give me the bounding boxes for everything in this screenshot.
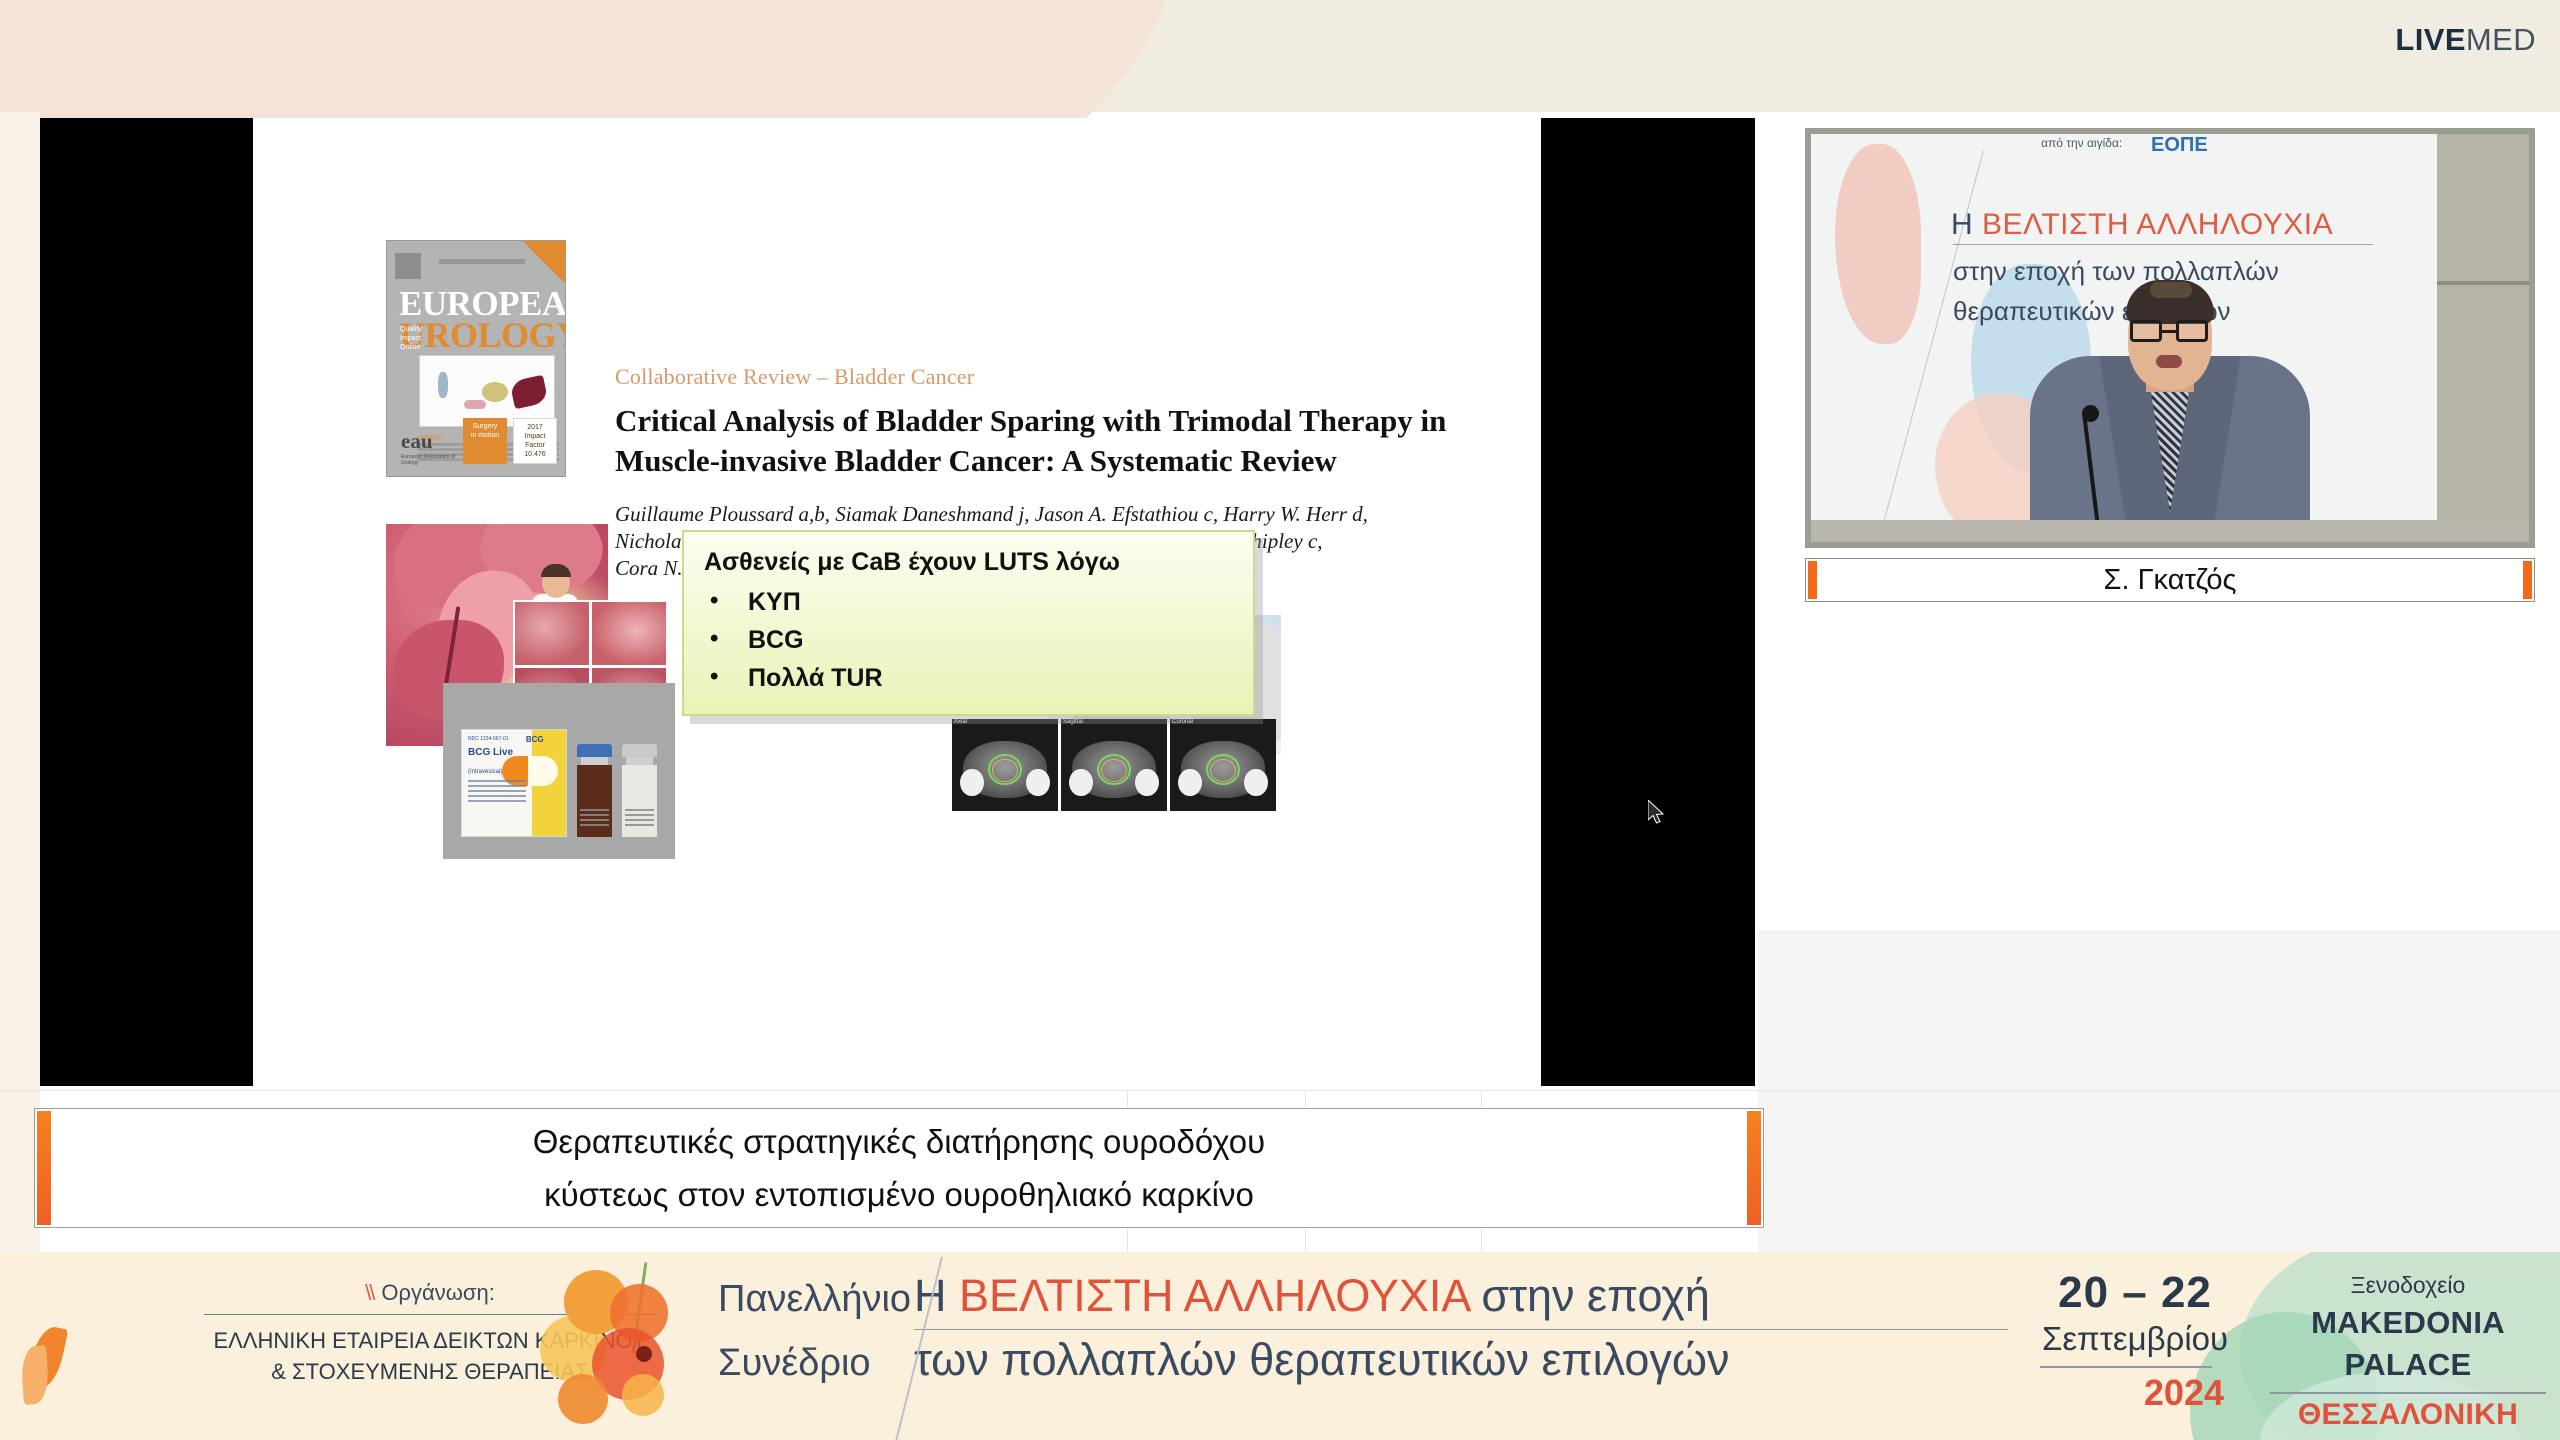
logo-med-text: MED	[2466, 22, 2536, 57]
backdrop-right-wall	[2437, 134, 2529, 542]
cover-tagline: QualityImpactOnline	[400, 325, 422, 352]
backdrop-auspices-text: από την αιγίδα:	[2041, 136, 2122, 150]
bcg-carton-fineprint	[468, 780, 526, 805]
bcg-vaccine-photo: NDC 1234-567-01 BCG BCG Live (Intravesic…	[443, 683, 675, 859]
bcg-vial-amber	[577, 744, 612, 837]
bcg-ndc-code: NDC 1234-567-01	[468, 736, 509, 742]
ct-label-coronal: Coronal	[1172, 719, 1193, 725]
eau-society-logo: eau European Association of Urology	[401, 429, 471, 466]
backdrop-title-red: ΒΕΛΤΙΣΤΗ ΑΛΛΗΛΟΥΧΙΑ	[1982, 208, 2333, 241]
date-month: Σεπτεμβρίου	[2040, 1318, 2230, 1360]
paper-title: Critical Analysis of Bladder Sparing wit…	[615, 401, 1495, 481]
paper-title-line1: Critical Analysis of Bladder Sparing wit…	[615, 403, 1446, 438]
speaker-name-bar: Σ. Γκατζός	[1805, 558, 2535, 602]
backdrop-sponsor-logo: ΕΟΠΕ	[2151, 134, 2208, 157]
date-range: 20 – 22	[2040, 1268, 2230, 1318]
date-year: 2024	[2040, 1372, 2230, 1414]
venue-rule	[2270, 1392, 2546, 1394]
backdrop-title-line1: Η ΒΕΛΤΙΣΤΗ ΑΛΛΗΛΟΥΧΙΑ	[1951, 208, 2333, 242]
paper-authors-line1: Guillaume Ploussard a,b, Siamak Daneshma…	[615, 502, 1368, 526]
venue-kicker: Ξενοδοχείο	[2270, 1268, 2546, 1302]
conference-headline-2: των πολλαπλών θεραπευτικών επιλογών	[914, 1332, 1730, 1388]
bcg-title-line1: BCG Live	[468, 747, 513, 758]
conference-row-1: Πανελλήνιο Η ΒΕΛΤΙΣΤΗ ΑΛΛΗΛΟΥΧΙΑ στην επ…	[718, 1268, 2008, 1327]
conf-headline-plain-b: στην εποχή	[1469, 1270, 1710, 1321]
video-frame: από την αιγίδα: ΕΟΠΕ Η ΒΕΛΤΙΣΤΗ ΑΛΛΗΛΟΥΧ…	[1811, 134, 2529, 542]
backdrop-right-trim	[2437, 281, 2529, 285]
conference-title-block: Πανελλήνιο Η ΒΕΛΤΙΣΤΗ ΑΛΛΗΛΟΥΧΙΑ στην επ…	[718, 1268, 2008, 1391]
app-root: LIVEMED EUROPEAN UROLOGY QualityImpactOn…	[0, 0, 2560, 1440]
cystoscopy-tile	[515, 602, 589, 665]
bcg-title-line2: (Intravesical)	[468, 769, 502, 775]
venue-city: ΘΕΣΣΑΛΟΝΙΚΗ	[2270, 1398, 2546, 1432]
elsevier-logo-icon	[395, 253, 421, 279]
conference-headline-1: Η ΒΕΛΤΙΣΤΗ ΑΛΛΗΛΟΥΧΙΑ στην εποχή	[914, 1268, 1710, 1324]
background-left-strip	[0, 112, 40, 1252]
cover-badge-impact-factor: 2017 Impact Factor 10.476	[513, 418, 557, 464]
slide-stage[interactable]: EUROPEAN UROLOGY QualityImpactOnline Hig…	[40, 118, 1755, 1086]
callout-box: Ασθενείς με CaB έχουν LUTS λόγω ΚΥΠ BCG …	[682, 530, 1255, 716]
ct-planning-images: Axial Sagittal Coronal	[952, 719, 1276, 811]
background-gray-panel	[1758, 930, 2560, 1252]
paper-kicker: Collaborative Review – Bladder Cancer	[615, 364, 1495, 390]
impact-value: 10.476	[524, 451, 545, 458]
callout-bullet: BCG	[704, 621, 1233, 659]
cover-artwork	[419, 355, 555, 427]
impact-year: 2017	[527, 424, 543, 431]
session-title-line1: Θεραπευτικές στρατηγικές διατήρησης ουρο…	[533, 1115, 1265, 1168]
cystoscopy-tile	[592, 602, 666, 665]
organizer-kicker-label: Οργάνωση:	[381, 1280, 494, 1305]
callout-bullet-list: ΚΥΠ BCG Πολλά TUR	[704, 583, 1233, 697]
backdrop-title-plain: Η	[1951, 208, 1982, 241]
footer-flame-icon	[18, 1326, 70, 1418]
date-rule	[2040, 1366, 2212, 1368]
podium	[1811, 520, 2529, 542]
bcg-vial-diluent	[622, 744, 657, 837]
ct-view-axial: Axial	[952, 719, 1058, 811]
session-title-line2: κύστεως στον εντοπισμένο ουροθηλιακό καρ…	[544, 1168, 1254, 1221]
cover-badge-surgery: Surgeryin motion	[463, 418, 507, 464]
conference-venue-block: Ξενοδοχείο MAKEDONIA PALACE ΘΕΣΣΑΛΟΝΙΚΗ	[2270, 1268, 2546, 1432]
speaker-figure	[2030, 242, 2310, 542]
logo-live-text: LIVE	[2395, 22, 2466, 57]
conference-date-block: 20 – 22 Σεπτεμβρίου 2024	[2040, 1268, 2230, 1414]
speaker-video-panel[interactable]: από την αιγίδα: ΕΟΠΕ Η ΒΕΛΤΙΣΤΗ ΑΛΛΗΛΟΥΧ…	[1805, 128, 2535, 548]
factor-word: Factor	[525, 442, 545, 449]
conference-rule	[914, 1329, 2008, 1330]
impact-word: Impact	[524, 433, 545, 440]
conference-word-congress: Συνέδριο	[718, 1335, 914, 1391]
conference-logo-icon	[530, 1262, 705, 1434]
presentation-slide: EUROPEAN UROLOGY QualityImpactOnline Hig…	[253, 118, 1541, 1086]
background-divider-line	[0, 1090, 2560, 1091]
organizer-slashes: \\	[365, 1280, 373, 1305]
session-title-bar: Θεραπευτικές στρατηγικές διατήρησης ουρο…	[34, 1108, 1764, 1228]
callout-heading: Ασθενείς με CaB έχουν LUTS λόγω	[704, 548, 1233, 577]
cover-title-line2: UROLOGY	[399, 319, 557, 352]
bcg-carton: NDC 1234-567-01 BCG BCG Live (Intravesic…	[461, 729, 567, 837]
callout-bullet: Πολλά TUR	[704, 659, 1233, 697]
journal-cover-thumbnail: EUROPEAN UROLOGY QualityImpactOnline Hig…	[386, 240, 566, 477]
speaker-name: Σ. Γκατζός	[2104, 564, 2237, 597]
cover-corner-ribbon	[506, 240, 566, 290]
conference-word-panhellenic: Πανελλήνιο	[718, 1271, 914, 1327]
eau-mark: eau	[401, 429, 471, 454]
callout-bullet: ΚΥΠ	[704, 583, 1233, 621]
livemed-logo: LIVEMED	[2395, 22, 2536, 58]
ct-view-sagittal: Sagittal	[1061, 719, 1167, 811]
ct-label-axial: Axial	[954, 719, 967, 725]
ct-label-sagittal: Sagittal	[1063, 719, 1083, 725]
conf-headline-red: ΒΕΛΤΙΣΤΗ ΑΛΛΗΛΟΥΧΙΑ	[959, 1270, 1469, 1321]
cover-top-strapline	[439, 259, 525, 264]
bcg-brand-text: BCG	[526, 735, 544, 744]
eau-subtitle: European Association of Urology	[401, 454, 471, 466]
ct-view-coronal: Coronal	[1170, 719, 1276, 811]
session-title-text: Θεραπευτικές στρατηγικές διατήρησης ουρο…	[35, 1109, 1763, 1227]
paper-title-line2: Muscle-invasive Bladder Cancer: A System…	[615, 443, 1337, 478]
venue-name: MAKEDONIA PALACE	[2270, 1302, 2546, 1386]
